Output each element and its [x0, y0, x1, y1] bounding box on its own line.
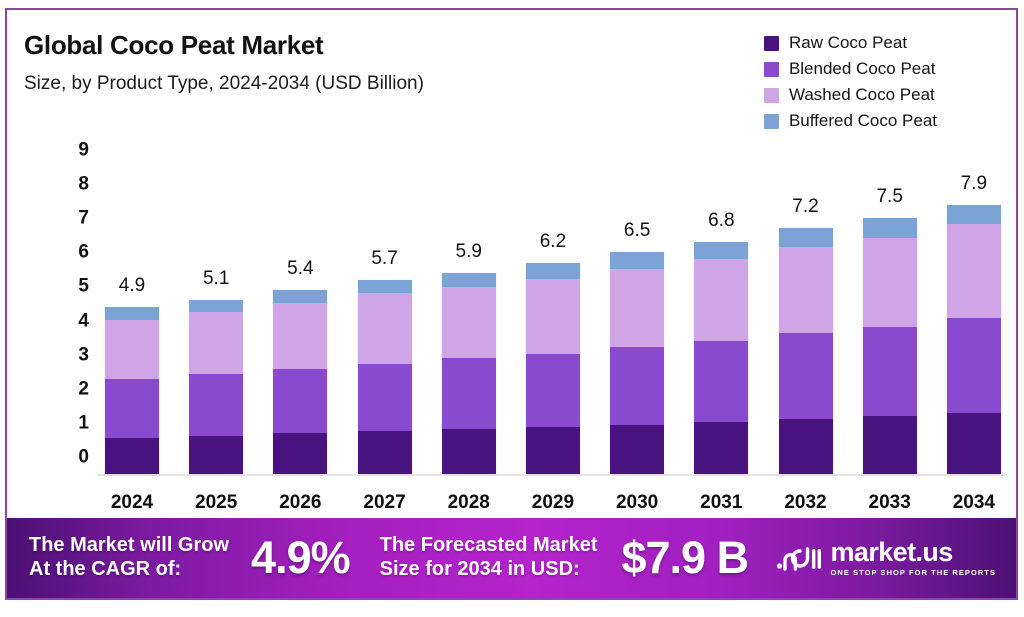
bar-value-label: 6.2 — [540, 231, 566, 253]
stacked-bar[interactable] — [779, 228, 833, 474]
legend-swatch-icon — [764, 114, 779, 129]
bar-segment[interactable] — [526, 427, 580, 474]
stacked-bar[interactable] — [947, 205, 1001, 474]
legend-item[interactable]: Blended Coco Peat — [764, 59, 937, 79]
x-axis-baseline — [97, 474, 1007, 476]
bar-segment[interactable] — [863, 238, 917, 328]
bar-segment[interactable] — [358, 431, 412, 474]
bar-segment[interactable] — [273, 303, 327, 369]
bar-segment[interactable] — [694, 422, 748, 474]
legend-item[interactable]: Washed Coco Peat — [764, 85, 937, 105]
bar-value-label: 4.9 — [119, 275, 145, 297]
bar-segment[interactable] — [105, 379, 159, 438]
forecast-label-line1: The Forecasted Market — [380, 534, 598, 556]
stacked-bar[interactable] — [863, 218, 917, 474]
bar-segment[interactable] — [526, 263, 580, 279]
bar-segment[interactable] — [189, 436, 243, 474]
legend-item-label: Blended Coco Peat — [789, 59, 936, 79]
bar-segment[interactable] — [779, 419, 833, 474]
infographic-card: Global Coco Peat Market Size, by Product… — [5, 8, 1018, 600]
bar-segment[interactable] — [273, 290, 327, 303]
bar-segment[interactable] — [273, 433, 327, 474]
bar-segment[interactable] — [189, 374, 243, 436]
y-axis-tick: 8 — [78, 175, 89, 194]
y-axis-tick: 0 — [78, 448, 89, 467]
legend-item[interactable]: Raw Coco Peat — [764, 33, 937, 53]
y-axis-tick: 6 — [78, 243, 89, 262]
bar-value-label: 5.4 — [287, 258, 313, 280]
bar-column[interactable]: 7.2 — [773, 150, 839, 474]
bar-column[interactable]: 5.9 — [436, 150, 502, 474]
bar-segment[interactable] — [694, 341, 748, 422]
stacked-bar[interactable] — [526, 263, 580, 474]
legend-item-label: Washed Coco Peat — [789, 85, 935, 105]
legend-swatch-icon — [764, 36, 779, 51]
y-axis-tick: 5 — [78, 277, 89, 296]
bar-segment[interactable] — [779, 247, 833, 333]
bar-value-label: 6.5 — [624, 220, 650, 242]
bar-segment[interactable] — [358, 280, 412, 293]
bar-column[interactable]: 6.8 — [688, 150, 754, 474]
bar-segment[interactable] — [694, 259, 748, 341]
bar-segment[interactable] — [358, 293, 412, 364]
summary-banner: The Market will Grow At the CAGR of: 4.9… — [7, 518, 1016, 598]
forecast-label: The Forecasted Market Size for 2034 in U… — [380, 534, 598, 581]
bar-segment[interactable] — [358, 364, 412, 431]
bar-segment[interactable] — [442, 429, 496, 474]
bar-column[interactable]: 6.5 — [604, 150, 670, 474]
bar-column[interactable]: 7.5 — [857, 150, 923, 474]
legend-item[interactable]: Buffered Coco Peat — [764, 111, 937, 131]
cagr-label-line1: The Market will Grow — [29, 534, 229, 556]
y-axis-tick: 9 — [78, 141, 89, 160]
y-axis: 0123456789 — [57, 150, 89, 457]
bar-segment[interactable] — [863, 416, 917, 474]
y-axis-tick: 4 — [78, 311, 89, 330]
bar-segment[interactable] — [779, 333, 833, 419]
forecast-value: $7.9 B — [621, 532, 748, 584]
bar-segment[interactable] — [947, 318, 1001, 413]
legend-swatch-icon — [764, 62, 779, 77]
stacked-bar[interactable] — [273, 290, 327, 474]
forecast-label-line2: Size for 2034 in USD: — [380, 558, 580, 580]
bar-segment[interactable] — [863, 327, 917, 416]
page-title: Global Coco Peat Market — [24, 30, 323, 61]
legend-item-label: Raw Coco Peat — [789, 33, 907, 53]
bar-value-label: 5.9 — [456, 241, 482, 263]
bar-column[interactable]: 5.7 — [352, 150, 418, 474]
bar-segment[interactable] — [442, 287, 496, 359]
stacked-bar[interactable] — [610, 252, 664, 474]
cagr-label: The Market will Grow At the CAGR of: — [29, 534, 229, 581]
y-axis-tick: 1 — [78, 413, 89, 432]
bar-value-label: 7.9 — [961, 173, 987, 195]
bar-column[interactable]: 7.9 — [941, 150, 1007, 474]
bar-column[interactable]: 4.9 — [99, 150, 165, 474]
bar-segment[interactable] — [442, 358, 496, 429]
brand-text: market.us ONE STOP SHOP FOR THE REPORTS — [831, 539, 996, 577]
y-axis-tick: 7 — [78, 209, 89, 228]
bar-value-label: 6.8 — [708, 210, 734, 232]
stacked-bar[interactable] — [358, 280, 412, 474]
bar-segment[interactable] — [526, 354, 580, 427]
bar-segment[interactable] — [526, 279, 580, 354]
bar-column[interactable]: 5.1 — [183, 150, 249, 474]
bar-segment[interactable] — [694, 242, 748, 259]
bar-value-label: 7.2 — [792, 196, 818, 218]
stacked-bar[interactable] — [694, 242, 748, 474]
bar-segment[interactable] — [105, 320, 159, 379]
bar-value-label: 7.5 — [876, 186, 902, 208]
bar-segment[interactable] — [779, 228, 833, 246]
bar-segment[interactable] — [947, 413, 1001, 474]
bar-value-label: 5.7 — [371, 248, 397, 270]
bar-segment[interactable] — [610, 269, 664, 347]
bar-segment[interactable] — [189, 300, 243, 312]
y-axis-tick: 2 — [78, 379, 89, 398]
bar-segment[interactable] — [863, 218, 917, 237]
bar-value-label: 5.1 — [203, 268, 229, 290]
brand-tagline: ONE STOP SHOP FOR THE REPORTS — [831, 569, 996, 577]
stacked-bar[interactable] — [442, 273, 496, 474]
brand-logo: market.us ONE STOP SHOP FOR THE REPORTS — [776, 539, 996, 577]
bar-segment[interactable] — [947, 205, 1001, 224]
bar-segment[interactable] — [273, 369, 327, 433]
cagr-label-line2: At the CAGR of: — [29, 558, 181, 580]
chart-legend: Raw Coco PeatBlended Coco PeatWashed Coc… — [764, 33, 937, 131]
stacked-bar[interactable] — [189, 300, 243, 474]
bar-segment[interactable] — [105, 438, 159, 474]
y-axis-tick: 3 — [78, 345, 89, 364]
bar-group: 4.95.15.45.75.96.26.56.87.27.57.9 — [99, 150, 1007, 474]
legend-swatch-icon — [764, 88, 779, 103]
chart-plot-area: 0123456789 4.95.15.45.75.96.26.56.87.27.… — [57, 150, 1007, 485]
bar-column[interactable]: 6.2 — [520, 150, 586, 474]
stacked-bar[interactable] — [105, 307, 159, 474]
legend-item-label: Buffered Coco Peat — [789, 111, 937, 131]
bar-column[interactable]: 5.4 — [267, 150, 333, 474]
cagr-value: 4.9% — [251, 532, 350, 584]
market-us-logo-icon — [776, 543, 822, 573]
bar-segment[interactable] — [105, 307, 159, 320]
bar-segment[interactable] — [610, 425, 664, 474]
bar-segment[interactable] — [610, 347, 664, 425]
bar-segment[interactable] — [947, 224, 1001, 318]
page-subtitle: Size, by Product Type, 2024-2034 (USD Bi… — [24, 73, 424, 95]
bar-segment[interactable] — [442, 273, 496, 287]
bar-segment[interactable] — [189, 312, 243, 374]
bar-segment[interactable] — [610, 252, 664, 269]
brand-name: market.us — [831, 539, 996, 566]
